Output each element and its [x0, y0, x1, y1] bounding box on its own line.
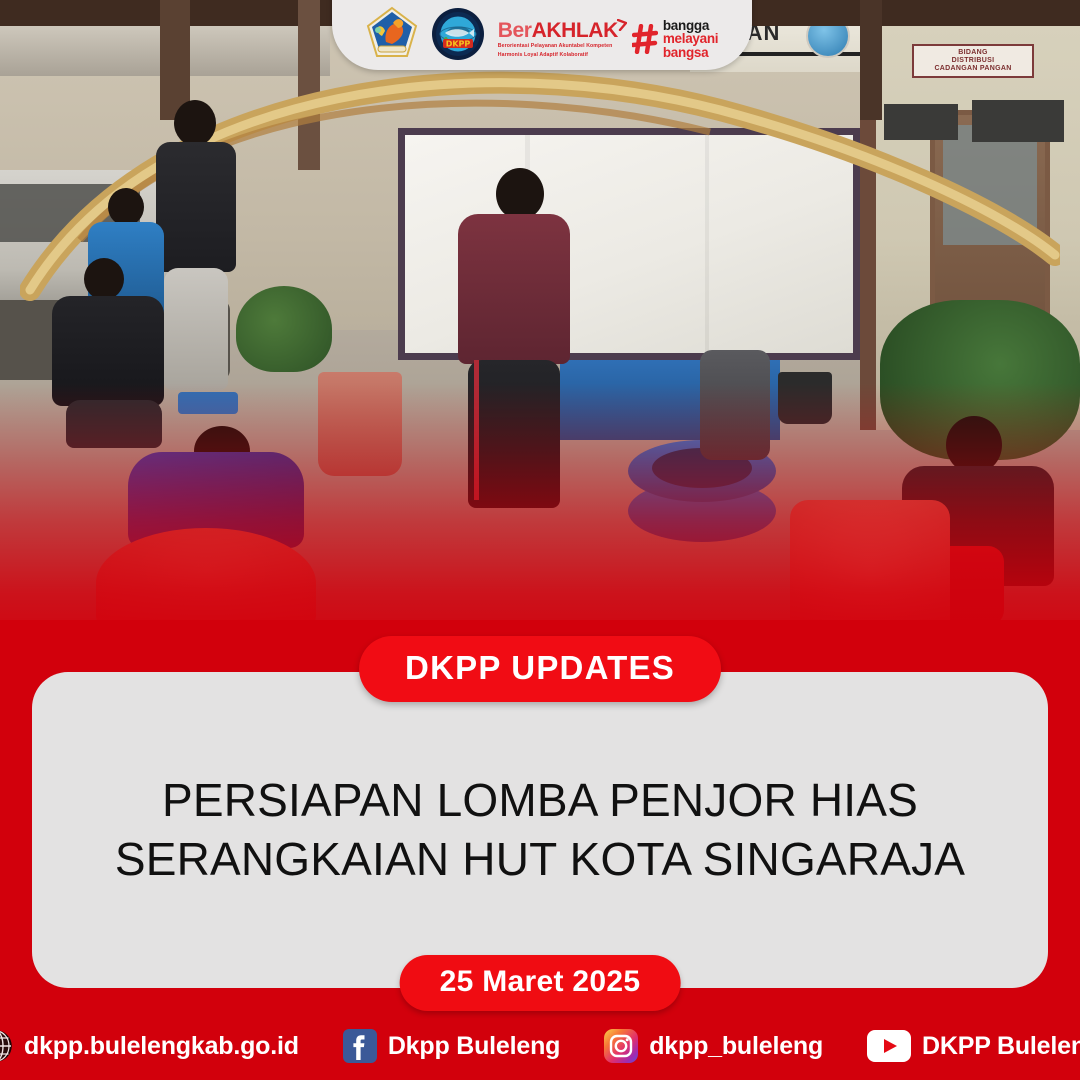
facebook-icon [343, 1029, 377, 1063]
youtube-icon [867, 1030, 911, 1062]
berakhlak-tagline-line-2: Harmonis Loyal Adaptif Kolaboratif [498, 52, 618, 60]
bmb-line-3: bangsa [663, 46, 718, 60]
footer-label-instagram: dkpp_buleleng [649, 1032, 823, 1061]
updates-badge: DKPP UPDATES [359, 636, 721, 702]
bangga-melayani-wordmark: bangga melayani bangsa [663, 19, 718, 60]
footer-label-facebook: Dkpp Buleleng [388, 1032, 560, 1061]
globe-icon [0, 1029, 13, 1063]
footer-item-youtube[interactable]: DKPP Buleleng [845, 1030, 1080, 1062]
bmb-line-2: melayani [663, 32, 718, 46]
event-photo: BIDANG DISTRIBUSI CADANGAN PANGAN KANAN [0, 0, 1080, 660]
berakhlak-suffix: AKHLAK [532, 19, 618, 42]
bangga-melayani-bangsa-logo: bangga melayani bangsa [632, 19, 718, 60]
svg-text:DKPP: DKPP [445, 40, 470, 49]
berakhlak-logo: BerAKHLAK Berorientasi Pelayanan Akuntab… [498, 20, 618, 60]
footer-item-website[interactable]: dkpp.bulelengkab.go.id [0, 1029, 321, 1063]
footer-label-website: dkpp.bulelengkab.go.id [24, 1032, 299, 1061]
social-media-poster: BIDANG DISTRIBUSI CADANGAN PANGAN KANAN [0, 0, 1080, 1080]
header-logo-bar: DKPP BerAKHLAK Berorientasi Pelayanan Ak… [332, 0, 752, 70]
instagram-icon [604, 1029, 638, 1063]
footer-label-youtube: DKPP Buleleng [922, 1032, 1080, 1061]
footer-item-instagram[interactable]: dkpp_buleleng [582, 1029, 845, 1063]
berakhlak-prefix: Ber [498, 19, 532, 42]
berakhlak-wordmark: BerAKHLAK [498, 20, 618, 41]
photo-red-gradient-overlay [0, 0, 1080, 660]
berakhlak-tick-icon [617, 14, 627, 26]
buleleng-regency-crest-icon [366, 6, 418, 60]
berakhlak-tagline-line-1: Berorientasi Pelayanan Akuntabel Kompete… [498, 43, 618, 51]
bmb-line-1: bangga [663, 19, 718, 33]
title-card: PERSIAPAN LOMBA PENJOR HIAS SERANGKAIAN … [32, 672, 1048, 988]
page-title: PERSIAPAN LOMBA PENJOR HIAS SERANGKAIAN … [115, 771, 965, 889]
title-line-1: PERSIAPAN LOMBA PENJOR HIAS [162, 774, 918, 826]
title-line-2: SERANGKAIAN HUT KOTA SINGARAJA [115, 830, 965, 889]
dkpp-logo-icon: DKPP [432, 8, 484, 60]
bangga-melayani-hash-icon [632, 24, 658, 54]
footer-item-facebook[interactable]: Dkpp Buleleng [321, 1029, 582, 1063]
date-badge: 25 Maret 2025 [400, 955, 681, 1011]
social-footer: dkpp.bulelengkab.go.id Dkpp Buleleng dkp… [0, 1012, 1080, 1080]
